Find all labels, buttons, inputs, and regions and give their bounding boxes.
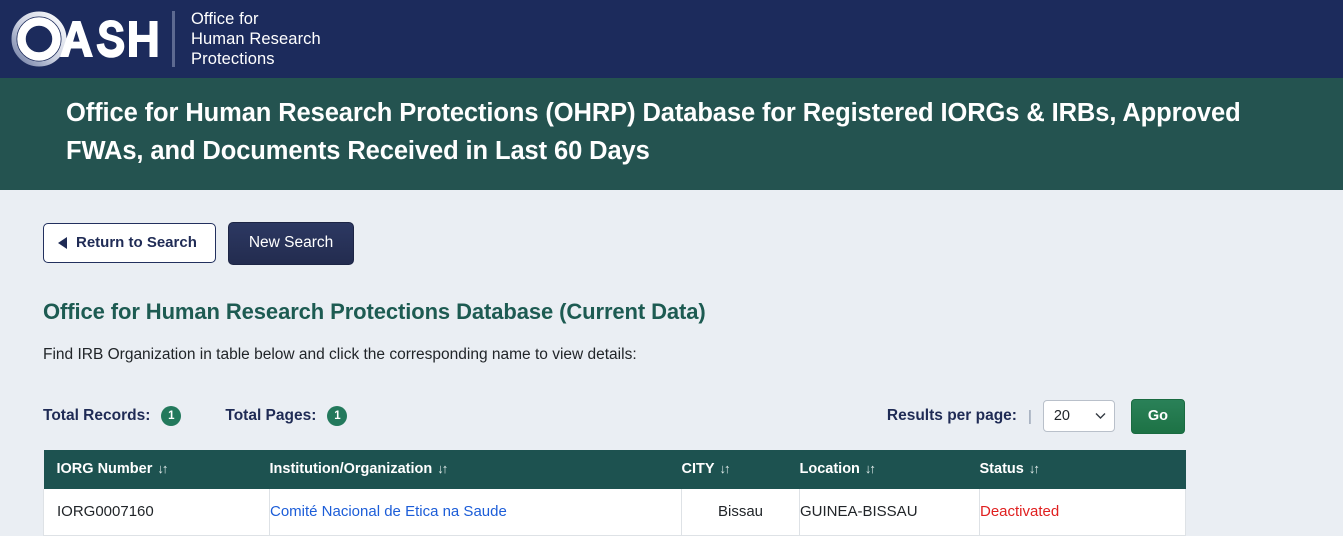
cell-location: GUINEA-BISSAU <box>800 489 980 536</box>
page-title: Office for Human Research Protections (O… <box>66 94 1313 170</box>
logo-text-line-2: Human Research <box>191 29 321 49</box>
column-header-status-label: Status <box>980 461 1024 477</box>
triangle-left-icon <box>58 237 67 249</box>
table-header-row: IORG Number↓↑ Institution/Organization↓↑… <box>44 450 1186 489</box>
section-title: Office for Human Research Protections Da… <box>43 299 1343 325</box>
sort-updown-icon[interactable]: ↓↑ <box>865 461 874 476</box>
total-pages-label: Total Pages: <box>225 407 316 425</box>
oash-ring-logo-icon <box>10 10 158 68</box>
results-per-page-label: Results per page: <box>887 407 1017 425</box>
logo-wordmark: Office for Human Research Protections <box>191 9 321 69</box>
status-badge: Deactivated <box>980 489 1186 536</box>
column-header-institution-label: Institution/Organization <box>270 461 433 477</box>
results-table-body: IORG0007160 Comité Nacional de Etica na … <box>44 489 1186 536</box>
results-per-page-select-wrap: 20 <box>1043 400 1115 432</box>
return-to-search-label: Return to Search <box>76 235 197 250</box>
site-header: Office for Human Research Protections <box>0 0 1343 78</box>
sort-updown-icon[interactable]: ↓↑ <box>720 461 729 476</box>
action-toolbar: Return to Search New Search <box>43 190 1343 265</box>
total-records-group: Total Records: 1 Total Pages: 1 <box>43 406 347 426</box>
results-meta-row: Total Records: 1 Total Pages: 1 Results … <box>43 399 1185 434</box>
column-header-location-label: Location <box>800 461 860 477</box>
return-to-search-button[interactable]: Return to Search <box>43 223 216 263</box>
page-banner: Office for Human Research Protections (O… <box>0 78 1343 190</box>
sort-updown-icon[interactable]: ↓↑ <box>437 461 446 476</box>
results-table: IORG Number↓↑ Institution/Organization↓↑… <box>43 450 1186 536</box>
cell-iorg-number: IORG0007160 <box>44 489 270 536</box>
sort-updown-icon[interactable]: ↓↑ <box>1029 461 1038 476</box>
institution-detail-link[interactable]: Comité Nacional de Etica na Saude <box>270 503 507 520</box>
column-header-iorg-number[interactable]: IORG Number↓↑ <box>44 450 270 489</box>
results-table-head: IORG Number↓↑ Institution/Organization↓↑… <box>44 450 1186 489</box>
cell-city: Bissau <box>682 489 800 536</box>
column-header-iorg-number-label: IORG Number <box>57 461 153 477</box>
main-content: Return to Search New Search Office for H… <box>0 190 1343 536</box>
total-pages-badge: 1 <box>327 406 347 426</box>
column-header-institution[interactable]: Institution/Organization↓↑ <box>270 450 682 489</box>
column-header-location[interactable]: Location↓↑ <box>800 450 980 489</box>
column-header-city-label: CITY <box>682 461 715 477</box>
column-header-status[interactable]: Status↓↑ <box>980 450 1186 489</box>
results-per-page-select[interactable]: 20 <box>1043 400 1115 432</box>
new-search-button[interactable]: New Search <box>228 222 354 265</box>
oash-logo[interactable]: Office for Human Research Protections <box>10 9 321 69</box>
results-per-page-group: Results per page: | 20 Go <box>887 399 1185 434</box>
sort-updown-icon[interactable]: ↓↑ <box>157 461 166 476</box>
go-button[interactable]: Go <box>1131 399 1185 434</box>
vertical-separator: | <box>1028 408 1032 425</box>
logo-text-line-1: Office for <box>191 9 321 29</box>
results-table-wrap: IORG Number↓↑ Institution/Organization↓↑… <box>43 450 1185 536</box>
section-instructions: Find IRB Organization in table below and… <box>43 346 1343 364</box>
logo-divider <box>172 11 175 67</box>
total-records-label: Total Records: <box>43 407 150 425</box>
logo-text-line-3: Protections <box>191 49 321 69</box>
table-row: IORG0007160 Comité Nacional de Etica na … <box>44 489 1186 536</box>
total-records-badge: 1 <box>161 406 181 426</box>
column-header-city[interactable]: CITY↓↑ <box>682 450 800 489</box>
cell-institution: Comité Nacional de Etica na Saude <box>270 489 682 536</box>
